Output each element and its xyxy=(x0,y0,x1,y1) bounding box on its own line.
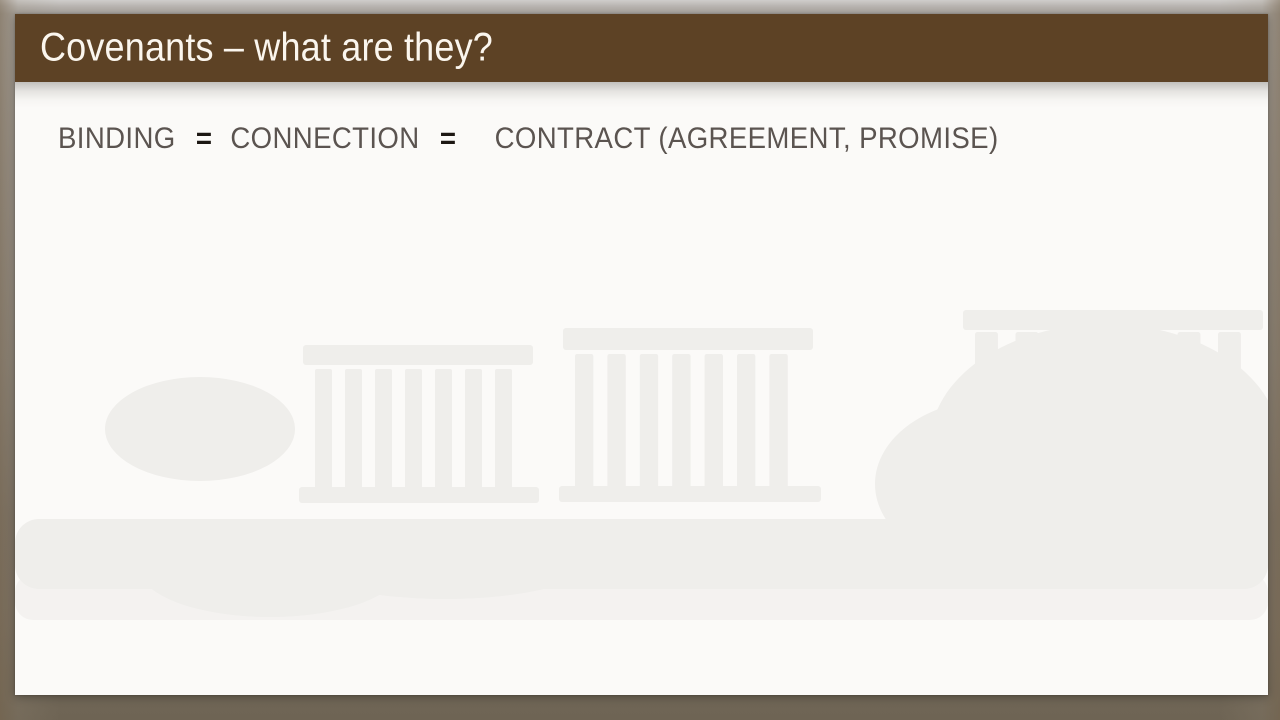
equation-term-contract: CONTRACT (AGREEMENT, PROMISE) xyxy=(495,122,999,156)
covenant-equation-line: BINDING = CONNECTION = CONTRACT (AGREEME… xyxy=(58,122,999,156)
greek-temple-ruins-watermark xyxy=(15,14,1268,695)
slide-frame: Covenants – what are they? BINDING = CON… xyxy=(0,0,1280,720)
page-title: Covenants – what are they? xyxy=(40,26,493,71)
slide-title-band: Covenants – what are they? xyxy=(15,14,1268,82)
equation-term-connection: CONNECTION xyxy=(230,122,419,156)
equation-term-binding: BINDING xyxy=(58,122,176,156)
equation-operator-first: = xyxy=(196,122,212,156)
title-band-shadow xyxy=(15,82,1268,108)
equation-operator-second: = xyxy=(440,122,456,156)
slide-content-sheet: Covenants – what are they? BINDING = CON… xyxy=(15,14,1268,695)
